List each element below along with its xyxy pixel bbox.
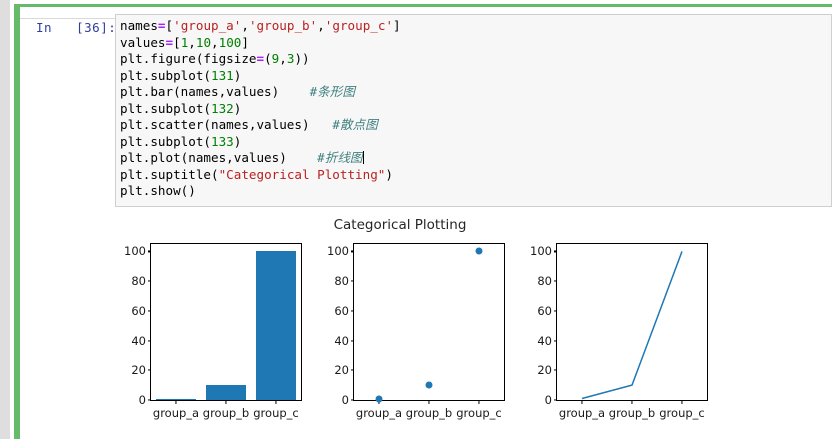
code-token: [ <box>173 35 181 50</box>
x-tick-mark <box>225 400 226 404</box>
selected-cell-marker <box>14 4 20 439</box>
code-line: plt.subplot(133) <box>120 134 401 151</box>
x-tick-label: group_b <box>406 406 452 420</box>
code-token: plt.figure(figsize <box>120 51 256 66</box>
notebook-gutter <box>0 0 10 439</box>
code-token: plt.subplot( <box>120 68 211 83</box>
y-tick-label: 20 <box>334 363 349 377</box>
y-tick-mark <box>148 340 152 341</box>
code-token: 'group_a' <box>173 18 241 33</box>
x-tick-mark <box>681 400 682 404</box>
x-tick-label: group_b <box>609 406 655 420</box>
code-line: names=['group_a','group_b','group_c'] <box>120 18 401 35</box>
code-line: plt.suptitle("Categorical Plotting") <box>120 167 401 184</box>
y-tick-label: 80 <box>537 274 552 288</box>
y-tick-label: 100 <box>124 244 146 258</box>
text-cursor <box>363 151 364 164</box>
code-token: 132 <box>211 101 234 116</box>
code-token: "Categorical Plotting" <box>219 167 386 182</box>
code-line: plt.figure(figsize=(9,3)) <box>120 51 401 68</box>
code-token: ) <box>385 167 393 182</box>
y-tick-label: 20 <box>131 363 146 377</box>
code-line: plt.subplot(132) <box>120 101 401 118</box>
scatter-point <box>376 395 383 402</box>
code-token: 100 <box>219 35 242 50</box>
x-tick-label: group_c <box>456 406 501 420</box>
code-token: #条形图 <box>310 84 355 99</box>
line-series-svg <box>557 244 707 400</box>
y-tick-label: 0 <box>545 393 552 407</box>
scatter-point <box>476 248 483 255</box>
code-token: 131 <box>211 68 234 83</box>
code-line: plt.scatter(names,values) #散点图 <box>120 117 401 134</box>
code-token: plt.subplot( <box>120 101 211 116</box>
code-token: plt.plot(names,values) <box>120 150 317 165</box>
y-tick-mark <box>351 399 355 400</box>
code-token: , <box>188 35 196 50</box>
code-token: plt.subplot( <box>120 134 211 149</box>
subplot-bar-axes: 020406080100group_agroup_bgroup_c <box>150 243 302 401</box>
y-tick-label: 60 <box>334 304 349 318</box>
y-tick-mark <box>351 340 355 341</box>
subplot-scatter-axes: 020406080100group_agroup_bgroup_c <box>353 243 505 401</box>
line-path <box>582 251 682 398</box>
code-token: ( <box>264 51 272 66</box>
code-token: = <box>256 51 264 66</box>
code-token: ] <box>393 18 401 33</box>
bar <box>206 385 246 400</box>
y-tick-mark <box>351 251 355 252</box>
y-tick-mark <box>351 310 355 311</box>
code-token: 'group_c' <box>325 18 393 33</box>
x-tick-mark <box>275 400 276 404</box>
x-tick-label: group_a <box>356 406 402 420</box>
x-tick-mark <box>478 400 479 404</box>
code-token: , <box>279 51 287 66</box>
x-tick-label: group_a <box>559 406 605 420</box>
code-token: #散点图 <box>332 117 377 132</box>
scatter-point <box>426 382 433 389</box>
y-tick-mark <box>351 370 355 371</box>
code-token: [ <box>166 18 174 33</box>
y-tick-mark <box>351 281 355 282</box>
code-token: plt.suptitle( <box>120 167 219 182</box>
bar <box>256 251 296 400</box>
y-tick-label: 20 <box>537 363 552 377</box>
figure-suptitle: Categorical Plotting <box>100 217 700 233</box>
y-tick-label: 80 <box>131 274 146 288</box>
y-tick-label: 40 <box>131 334 146 348</box>
code-token: ) <box>234 134 242 149</box>
code-token: 133 <box>211 134 234 149</box>
y-tick-label: 60 <box>131 304 146 318</box>
x-tick-mark <box>428 400 429 404</box>
selected-cell-top-border <box>14 4 832 7</box>
y-tick-mark <box>148 370 152 371</box>
x-tick-label: group_a <box>153 406 199 420</box>
code-token: plt.bar(names,values) <box>120 84 310 99</box>
code-line: plt.bar(names,values) #条形图 <box>120 84 401 101</box>
notebook-cell-view: In [36]: names=['group_a','group_b','gro… <box>0 0 832 439</box>
code-token: )) <box>294 51 309 66</box>
x-tick-label: group_c <box>253 406 298 420</box>
code-line: plt.subplot(131) <box>120 68 401 85</box>
code-token: 'group_b' <box>249 18 317 33</box>
y-tick-label: 80 <box>334 274 349 288</box>
subplot-line-axes: 020406080100group_agroup_bgroup_c <box>556 243 708 401</box>
y-tick-mark <box>148 251 152 252</box>
x-tick-mark <box>581 400 582 404</box>
y-tick-mark <box>148 281 152 282</box>
code-token: , <box>317 18 325 33</box>
x-tick-mark <box>175 400 176 404</box>
code-token: ) <box>234 101 242 116</box>
code-token: plt.show() <box>120 183 196 198</box>
code-line: plt.show() <box>120 183 401 200</box>
code-token: ) <box>234 68 242 83</box>
code-input-area[interactable]: names=['group_a','group_b','group_c']val… <box>115 14 832 207</box>
code-token: ] <box>241 35 249 50</box>
code-line: values=[1,10,100] <box>120 35 401 52</box>
x-tick-mark <box>631 400 632 404</box>
code-token: 10 <box>196 35 211 50</box>
input-prompt: In [36]: <box>36 20 112 35</box>
x-tick-label: group_b <box>203 406 249 420</box>
y-tick-label: 40 <box>334 334 349 348</box>
code-token: names <box>120 18 158 33</box>
code-token: = <box>158 18 166 33</box>
bar <box>156 399 196 401</box>
code-token: , <box>211 35 219 50</box>
code-token: values <box>120 35 166 50</box>
y-tick-label: 0 <box>139 393 146 407</box>
y-tick-label: 100 <box>530 244 552 258</box>
code-editor-content[interactable]: names=['group_a','group_b','group_c']val… <box>120 18 401 200</box>
y-tick-label: 40 <box>537 334 552 348</box>
y-tick-mark <box>148 310 152 311</box>
code-token: = <box>166 35 174 50</box>
code-token: plt.scatter(names,values) <box>120 117 332 132</box>
y-tick-label: 0 <box>342 393 349 407</box>
y-tick-label: 60 <box>537 304 552 318</box>
code-token: #折线图 <box>317 150 362 165</box>
y-tick-mark <box>148 399 152 400</box>
x-tick-label: group_c <box>659 406 704 420</box>
y-tick-label: 100 <box>327 244 349 258</box>
code-token: , <box>241 18 249 33</box>
figure-output: Categorical Plotting 020406080100group_a… <box>100 207 700 439</box>
code-line: plt.plot(names,values) #折线图 <box>120 150 401 167</box>
